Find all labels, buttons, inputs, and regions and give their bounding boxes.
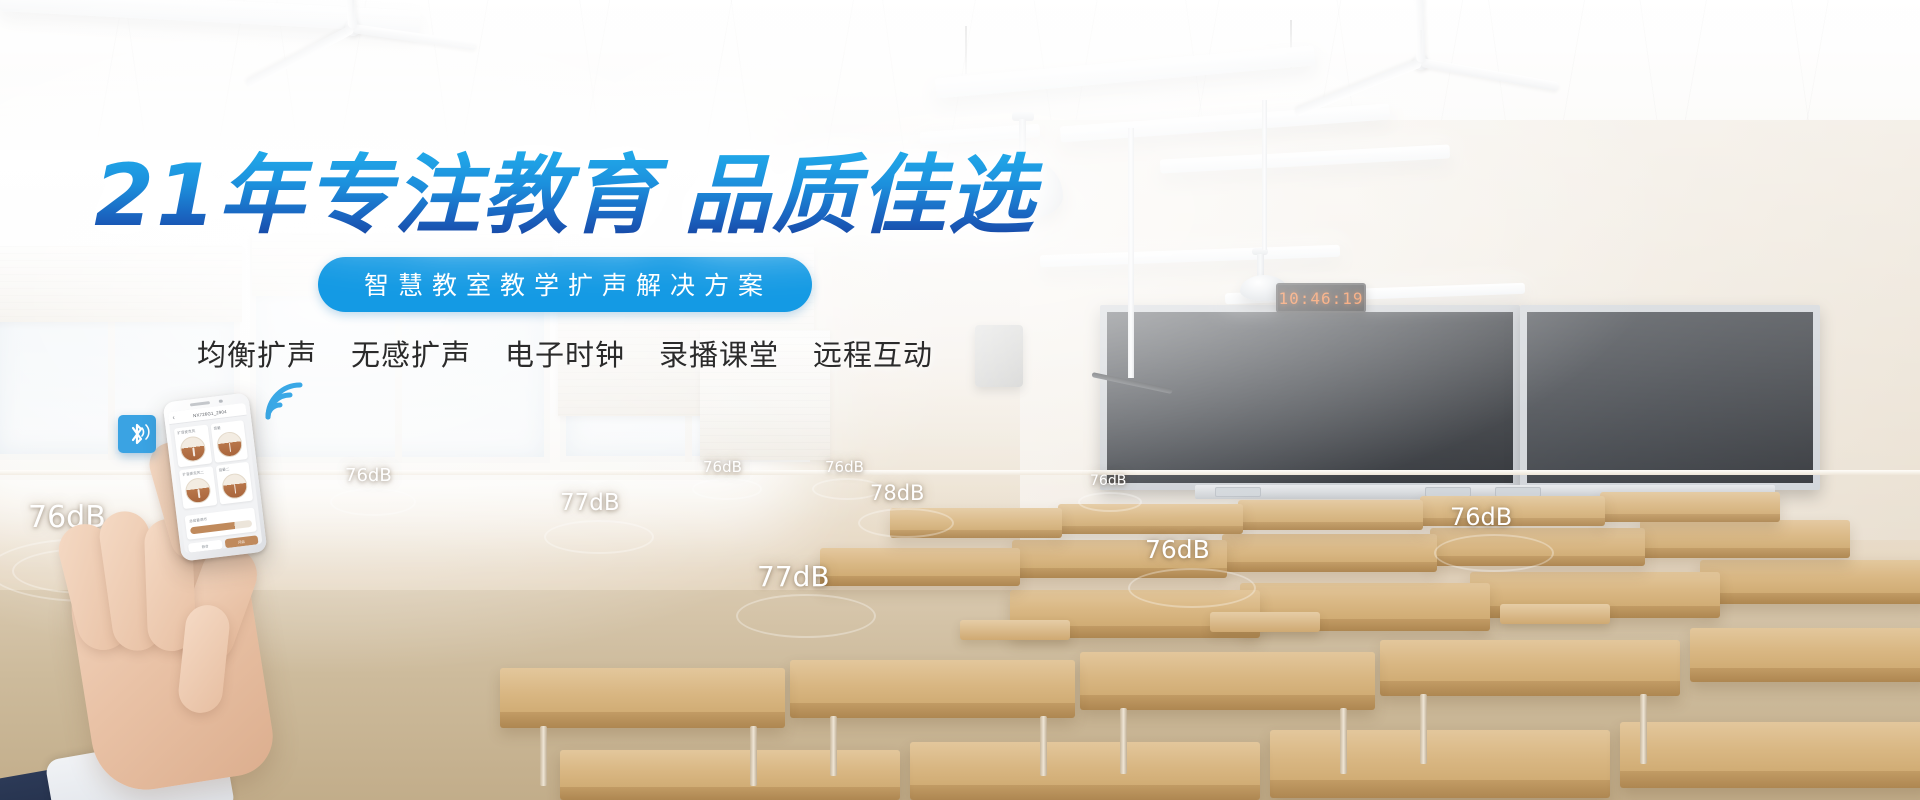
desk-r13 [1058, 504, 1243, 534]
desk-r7 [1222, 534, 1437, 572]
banner-stage: 10:46:19 [0, 0, 1920, 800]
volume-knob-2[interactable] [215, 431, 243, 459]
volume-knob-1[interactable] [179, 435, 207, 463]
control-card-label-2: 音量 [213, 423, 241, 431]
desk-leg-3 [1120, 708, 1127, 774]
subtitle-pill: 智慧教室教学扩声解决方案 [318, 257, 812, 312]
desk-r9 [820, 548, 1020, 586]
desk-r11 [1420, 496, 1605, 526]
projector-pole-2 [1262, 100, 1267, 250]
desk-f8 [910, 742, 1260, 800]
volume-knob-3[interactable] [184, 477, 212, 505]
blackboard-main [1100, 305, 1520, 490]
control-card-2[interactable]: 音量 [210, 420, 248, 463]
db-label-9: 76dB [1145, 535, 1210, 564]
desk-leg-4 [1340, 708, 1347, 774]
db-label-8: 77dB [757, 560, 830, 593]
desk-f2 [1690, 628, 1920, 682]
db-label-10: 76dB [1450, 503, 1512, 531]
hero-text-block: 21年专注教育品质佳选 智慧教室教学扩声解决方案 均衡扩声 无感扩声 电子时钟 … [0, 150, 1130, 374]
desk-r12 [1238, 500, 1423, 530]
control-card-1[interactable]: 扩音麦克风 [174, 425, 212, 468]
electronic-clock: 10:46:19 [1276, 283, 1366, 313]
control-card-label-3: 扩音麦克风二 [182, 470, 210, 478]
control-card-3[interactable]: 扩音麦克风二 [179, 466, 217, 509]
desk-r10 [1600, 492, 1780, 522]
phone-earpiece [190, 401, 210, 406]
desk-leg-2 [1640, 694, 1647, 764]
desk-f4 [790, 660, 1075, 718]
control-card-grid: 扩音麦克风 音量 扩音麦克风二 音量二 [169, 416, 257, 514]
desk-f9 [560, 750, 900, 800]
chair-3 [1500, 604, 1610, 624]
headline-part-1: 21年专注教育 [94, 146, 658, 246]
clock-digits: 10:46:19 [1278, 289, 1363, 308]
db-label-6: 78dB [870, 481, 924, 505]
power-on-button[interactable]: 开启 [224, 535, 258, 548]
desk-leg-7 [540, 726, 547, 786]
control-card-label-1: 扩音麦克风 [177, 428, 205, 436]
db-label-3: 77dB [560, 490, 620, 516]
phone-screen[interactable]: ‹ NX726G1_2904 扩音麦克风 音量 扩音麦克风二 [168, 403, 263, 553]
bluetooth-waves-icon [140, 424, 151, 442]
volume-knob-4[interactable] [221, 472, 249, 500]
desk-r1 [1700, 560, 1920, 604]
headline-part-2: 品质佳选 [684, 146, 1036, 246]
desk-f3 [1080, 652, 1375, 710]
subtitle-row: 智慧教室教学扩声解决方案 [0, 257, 1130, 312]
desk-r14 [890, 508, 1062, 538]
control-card-4[interactable]: 音量二 [215, 462, 253, 505]
db-label-5: 76dB [825, 458, 864, 476]
mute-button[interactable]: 静音 [188, 540, 222, 553]
db-label-7: 76dB [1090, 473, 1126, 489]
desk-f5 [500, 668, 785, 728]
master-volume-card[interactable]: 总音量调节 [185, 507, 257, 539]
page-title: 21年专注教育品质佳选 [0, 150, 1130, 243]
feature-item-5: 远程互动 [813, 332, 933, 374]
control-card-label-4: 音量二 [218, 465, 246, 473]
desk-leg-8 [750, 726, 757, 786]
desk-r6 [1430, 528, 1645, 566]
desk-f1 [1380, 640, 1680, 696]
phone-front-camera [219, 399, 223, 402]
chair-1 [1210, 612, 1320, 632]
light-wire-1 [965, 26, 967, 74]
desk-f7 [1620, 722, 1920, 788]
feature-item-1: 均衡扩声 [197, 332, 317, 374]
desk-r5 [1640, 520, 1850, 558]
chair-2 [960, 620, 1070, 640]
wifi-signal-icon [262, 377, 308, 421]
back-icon[interactable]: ‹ [172, 414, 175, 421]
desk-leg-6 [1040, 716, 1047, 776]
bluetooth-icon[interactable] [118, 415, 156, 453]
desk-leg-5 [830, 716, 837, 776]
blackboard-side [1520, 305, 1820, 490]
feature-item-2: 无感扩声 [351, 332, 471, 374]
db-label-4: 76dB [703, 458, 742, 476]
desk-f6 [1270, 730, 1610, 798]
feature-list: 均衡扩声 无感扩声 电子时钟 录播课堂 远程互动 [0, 332, 1130, 374]
feature-item-3: 电子时钟 [505, 332, 625, 374]
desk-leg-1 [1420, 694, 1427, 764]
feature-item-4: 录播课堂 [659, 332, 779, 374]
